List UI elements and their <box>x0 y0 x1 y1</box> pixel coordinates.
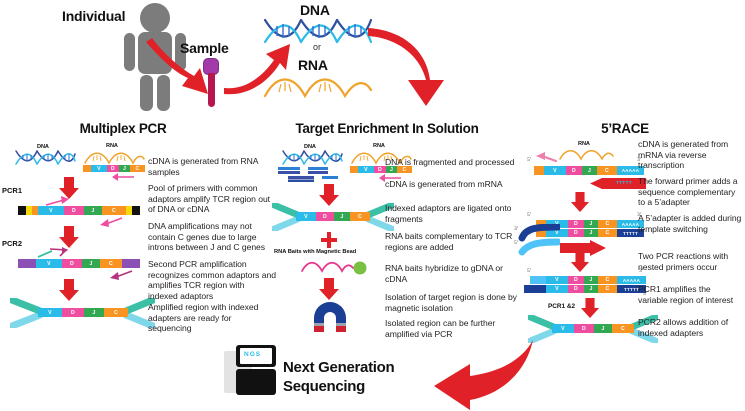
column-title-five-prime-race: 5’RACE <box>560 121 690 136</box>
step-text-col3-3: A 5’adapter is added during template swi… <box>638 213 742 234</box>
segment-j: J <box>584 285 598 293</box>
step-text-col3-2: The forward primer adds a sequence compl… <box>638 176 742 208</box>
ngs-screen-label: NGS <box>244 351 261 358</box>
five-prime-adapter-strands <box>518 224 560 258</box>
primer-arrow-col3-rt <box>534 152 560 164</box>
step-text-col3-1: cDNA is generated from mRNA via reverse … <box>638 139 742 171</box>
five-prime-label-1: 5’ <box>527 157 532 163</box>
primer-arrow-col1-cdna <box>110 171 136 181</box>
rna-strand-icon <box>263 72 373 100</box>
segment-c: C <box>598 285 617 293</box>
primer-arrow-pcr1-reverse <box>98 216 126 228</box>
ngs-title-line2: Sequencing <box>283 377 394 396</box>
step-text-col3-5: PCR1 amplifies the variable region of in… <box>638 284 742 305</box>
mrna-bar-col3: V D J C AAAAA <box>534 166 644 175</box>
segment-j: J <box>582 166 597 175</box>
segment-d: D <box>62 259 82 268</box>
segment-d: D <box>64 206 84 215</box>
step-text-col3-6: PCR2 allows addition of indexed adapters <box>638 317 742 338</box>
individual-label: Individual <box>62 8 125 24</box>
step-text-col1-1: cDNA is generated from RNA samples <box>148 156 272 177</box>
segment-j: J <box>84 308 104 317</box>
segment-v: V <box>36 259 62 268</box>
sample-tube <box>203 58 219 107</box>
segment-v: V <box>38 206 64 215</box>
segment-v: V <box>358 166 374 173</box>
segment-c: C <box>598 276 617 284</box>
fragmented-dna-col2 <box>278 166 344 182</box>
step-text-col3-4: Two PCR reactions with nested primers oc… <box>638 251 742 272</box>
final-duplex-bottom-col3: V D J C TTTTT <box>524 285 646 293</box>
poly-t-label: TTTTT <box>616 180 632 185</box>
rna-label: RNA <box>298 57 328 73</box>
pcr2-product-bar-col1: V D J C <box>18 259 140 268</box>
step-text-col2-7: Isolated region can be further amplified… <box>385 318 521 339</box>
down-arrow-col1-2 <box>58 226 80 248</box>
pcr1-product-bar-col1: V D J C <box>18 206 140 215</box>
step-text-col2-6: Isolation of target region is done by ma… <box>385 292 521 313</box>
segment-d: D <box>316 212 334 221</box>
y-adapter-fragment-col2: V D J C <box>272 203 394 231</box>
segment-v: V <box>38 308 62 317</box>
segment-d: D <box>568 285 584 293</box>
segment-j: J <box>82 259 100 268</box>
y-adapter-product-col1: V D J C <box>10 298 155 328</box>
arrow-to-workflow-columns <box>368 28 498 108</box>
segment-j: J <box>84 206 102 215</box>
pcr1-label-col1: PCR1 <box>2 186 22 195</box>
segment-v: V <box>544 166 566 175</box>
pcr2-label-col1: PCR2 <box>2 239 22 248</box>
segment-v: V <box>546 276 568 284</box>
step-text-col1-5: Amplified region with indexed adapters a… <box>148 302 272 334</box>
five-prime-label-3: 5’ <box>527 268 532 274</box>
arrow-to-ngs <box>400 338 535 410</box>
segment-c: C <box>102 206 126 215</box>
segment-c: C <box>598 229 617 237</box>
step-text-col2-5: RNA baits hybridize to gDNA or cDNA <box>385 263 515 284</box>
column-title-target-enrichment: Target Enrichment In Solution <box>272 121 502 136</box>
poly-a-tail: AAAAA <box>617 276 646 284</box>
segment-c: C <box>612 324 634 333</box>
down-arrow-col3-2 <box>570 252 590 272</box>
segment-v: V <box>552 324 574 333</box>
down-arrow-col2-2 <box>318 278 340 300</box>
pcr1-and-2-label: PCR1 &2 <box>548 303 575 310</box>
segment-j: J <box>584 229 598 237</box>
step-text-col1-2: Pool of primers with common adaptors amp… <box>148 183 274 215</box>
step-text-col2-1: DNA is fragmented and processed <box>385 157 525 168</box>
ngs-device-icon: NGS <box>224 345 276 400</box>
rna-strand-small-col3 <box>558 147 614 161</box>
column-title-multiplex-pcr: Multiplex PCR <box>28 121 218 136</box>
segment-d: D <box>568 229 584 237</box>
segment-v: V <box>91 165 107 172</box>
segment-c: C <box>104 308 128 317</box>
dna-helix-small-col2 <box>281 149 343 166</box>
down-arrow-col3-1 <box>570 192 590 212</box>
ngs-title-line1: Next Generation <box>283 358 394 377</box>
segment-c: C <box>100 259 122 268</box>
plus-icon-col2 <box>321 232 337 248</box>
diagram-root: Individual Sample DNA <box>0 0 745 411</box>
five-prime-label-2: 5’ <box>527 212 532 218</box>
step-text-col2-4: RNA baits complementary to TCR regions a… <box>385 231 515 252</box>
step-text-col1-3: DNA amplifications may not contain C gen… <box>148 221 274 253</box>
or-label: or <box>313 42 321 52</box>
segment-d: D <box>566 166 582 175</box>
final-duplex-top-col3: V D J C AAAAA <box>530 276 646 284</box>
segment-d: D <box>62 308 84 317</box>
magnet-icon <box>308 300 352 334</box>
step-text-col2-3: Indexed adaptors are ligated onto fragme… <box>385 203 515 224</box>
dna-helix-small-col1 <box>14 149 76 166</box>
segment-c: C <box>598 220 617 228</box>
step-text-col2-2: cDNA is generated from mRNA <box>385 179 525 190</box>
primer-arrow-pcr2-reverse <box>108 269 136 281</box>
segment-j: J <box>584 220 598 228</box>
step-text-col1-4: Second PCR amplification recognizes comm… <box>148 259 276 301</box>
rna-bait-with-bead <box>300 258 368 278</box>
segment-j: J <box>584 276 598 284</box>
rna-strand-small-col1 <box>83 149 145 165</box>
segment-d: D <box>574 324 594 333</box>
segment-d: D <box>568 220 584 228</box>
segment-v: V <box>296 212 316 221</box>
segment-j: J <box>594 324 612 333</box>
segment-c: C <box>597 166 617 175</box>
segment-d: D <box>568 276 584 284</box>
rna-baits-label: RNA Baits with Magnetic Bead <box>274 249 356 255</box>
segment-v: V <box>546 285 568 293</box>
segment-j: J <box>334 212 350 221</box>
segment-c: C <box>350 212 370 221</box>
